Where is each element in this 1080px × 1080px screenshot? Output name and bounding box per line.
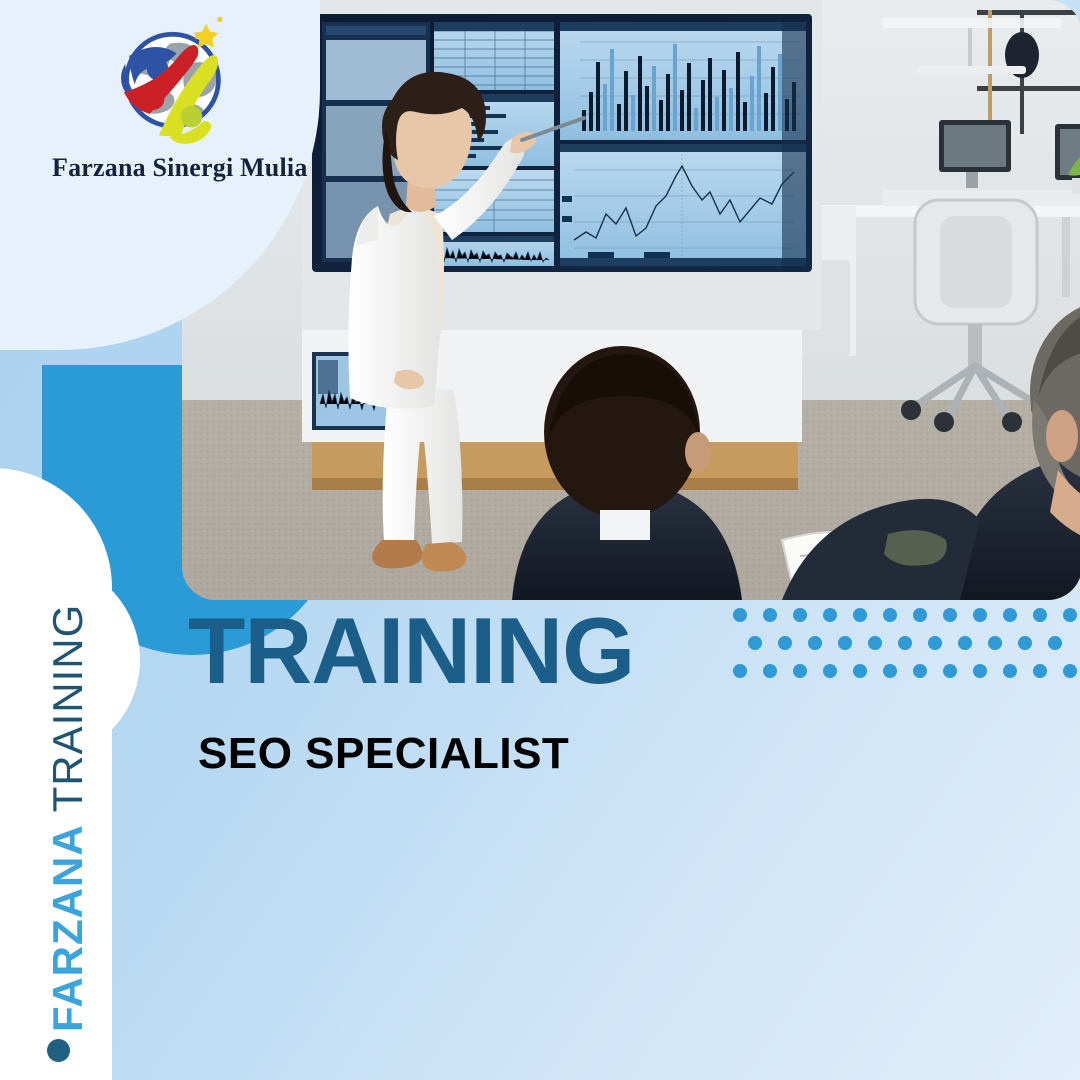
poster-canvas: Farzana Sinergi Mulia TRAINING SEO SPE xyxy=(0,0,1080,1080)
vertical-brand-strong: FARZANA xyxy=(44,824,91,1032)
page-title: TRAINING xyxy=(188,604,634,698)
vertical-brand-light: TRAINING xyxy=(44,604,91,825)
halftone-dot-grid xyxy=(733,604,1080,686)
globe-people-star-logo xyxy=(105,14,240,149)
headline-block: TRAINING SEO SPECIALIST xyxy=(188,604,634,776)
brand-logo: Farzana Sinergi Mulia xyxy=(52,14,292,183)
bullet-dot-icon xyxy=(47,1039,70,1062)
page-subtitle: SEO SPECIALIST xyxy=(198,732,634,776)
brand-name: Farzana Sinergi Mulia xyxy=(52,153,292,183)
vertical-brand-label: FARZANA TRAINING xyxy=(44,560,92,1060)
